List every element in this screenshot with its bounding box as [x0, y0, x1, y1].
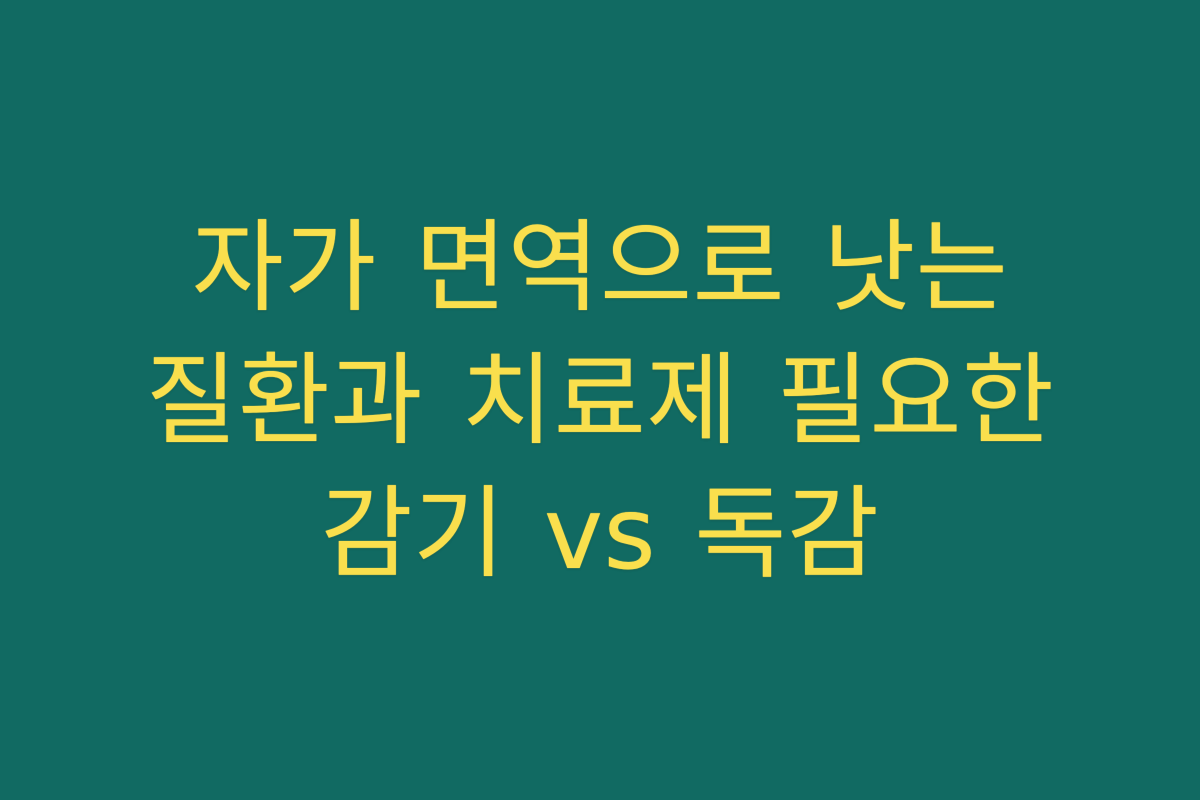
- headline-block: 자가 면역으로 낫는 질환과 치료제 필요한 감기 vs 독감: [0, 201, 1200, 600]
- headline-title: 자가 면역으로 낫는 질환과 치료제 필요한 감기 vs 독감: [76, 201, 1124, 600]
- title-card: 자가 면역으로 낫는 질환과 치료제 필요한 감기 vs 독감: [0, 0, 1200, 800]
